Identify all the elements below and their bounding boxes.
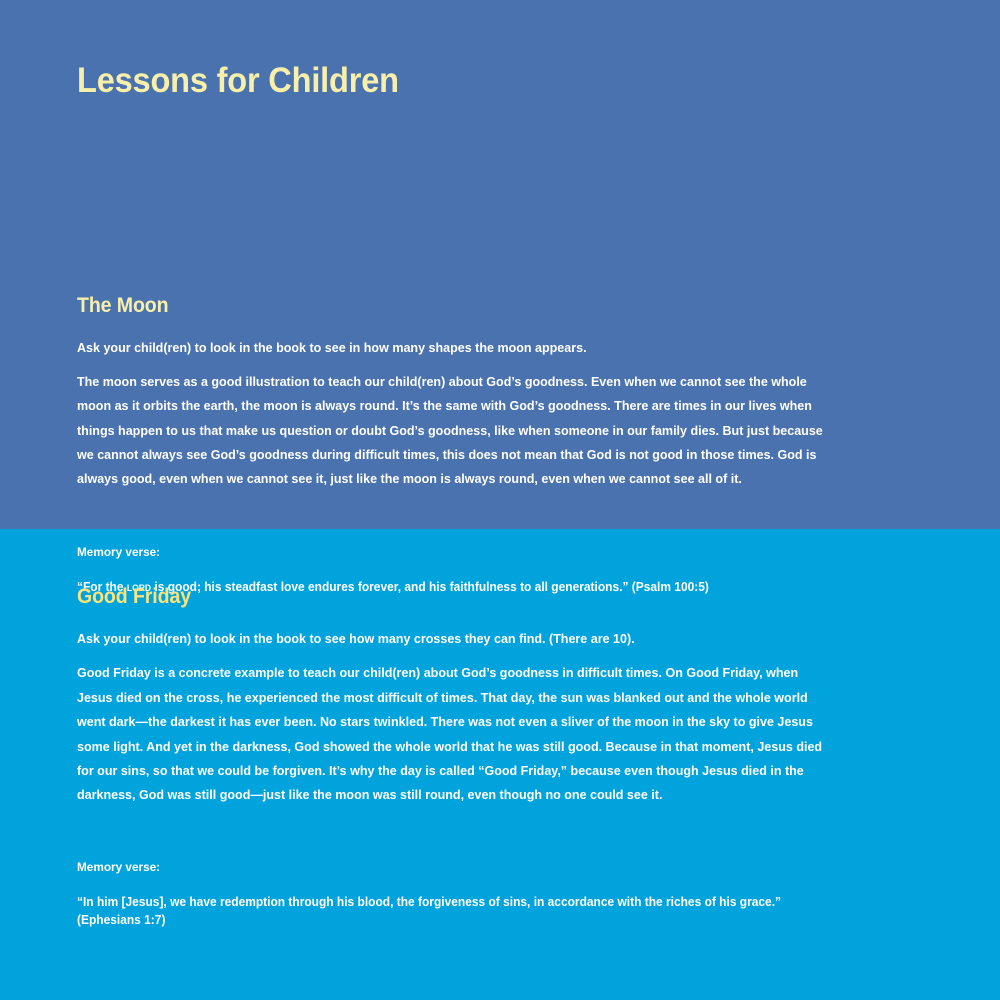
section-the-moon: Lessons for Children The Moon Ask your c… xyxy=(77,0,877,596)
memory-verse-text-good-friday: “In him [Jesus], we have redemption thro… xyxy=(77,876,837,930)
section-lead-good-friday: Ask your child(ren) to look in the book … xyxy=(77,608,837,648)
lesson-page: Lessons for Children The Moon Ask your c… xyxy=(0,0,1000,1000)
section-lead-the-moon: Ask your child(ren) to look in the book … xyxy=(77,317,837,357)
section-heading-the-moon: The Moon xyxy=(77,101,821,317)
section-heading-good-friday: Good Friday xyxy=(77,529,821,608)
section-body-the-moon: The moon serves as a good illustration t… xyxy=(77,357,837,492)
section-good-friday: Good Friday Ask your child(ren) to look … xyxy=(77,529,877,930)
memory-verse-label-good-friday: Memory verse: xyxy=(77,808,837,876)
section-body-good-friday: Good Friday is a concrete example to tea… xyxy=(77,648,837,808)
page-title: Lessons for Children xyxy=(77,0,821,101)
